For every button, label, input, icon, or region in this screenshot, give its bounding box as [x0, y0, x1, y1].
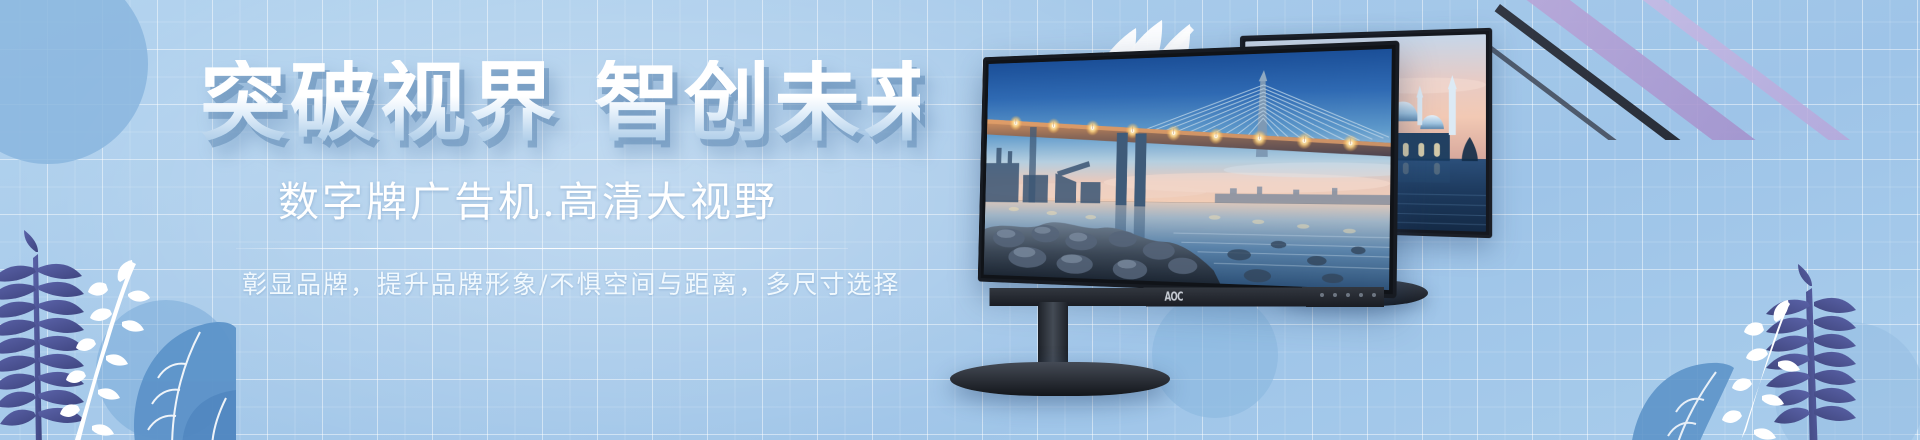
text-content-block: 突破视界 智创未来 数字牌广告机.高清大视野 彰显品牌，提升品牌形象/不惧空间与…: [200, 60, 920, 301]
monitor-osd-buttons[interactable]: [1320, 293, 1376, 297]
osd-button[interactable]: [1333, 293, 1337, 297]
front-monitor-screen: [984, 49, 1392, 290]
osd-button[interactable]: [1346, 293, 1350, 297]
circle-decoration-bottom-left: [96, 300, 236, 440]
front-monitor-bezel: [978, 41, 1400, 299]
front-monitor-stand-base: [950, 362, 1170, 396]
aoc-logo: AOC: [1165, 290, 1183, 304]
bridge-at-dusk-photo: [984, 49, 1392, 290]
front-monitor: AOC: [890, 40, 1410, 390]
osd-button[interactable]: [1359, 293, 1363, 297]
tagline: 彰显品牌，提升品牌形象/不惧空间与距离，多尺寸选择: [242, 265, 920, 301]
osd-button[interactable]: [1320, 293, 1324, 297]
osd-button[interactable]: [1372, 293, 1376, 297]
promo-banner: 突破视界 智创未来 数字牌广告机.高清大视野 彰显品牌，提升品牌形象/不惧空间与…: [0, 0, 1920, 440]
divider: [236, 248, 848, 249]
monitor-group: AOC: [880, 0, 1920, 440]
circle-decoration-top-left: [0, 0, 148, 164]
page-title: 突破视界 智创未来: [200, 60, 920, 146]
subtitle: 数字牌广告机.高清大视野: [278, 168, 920, 228]
